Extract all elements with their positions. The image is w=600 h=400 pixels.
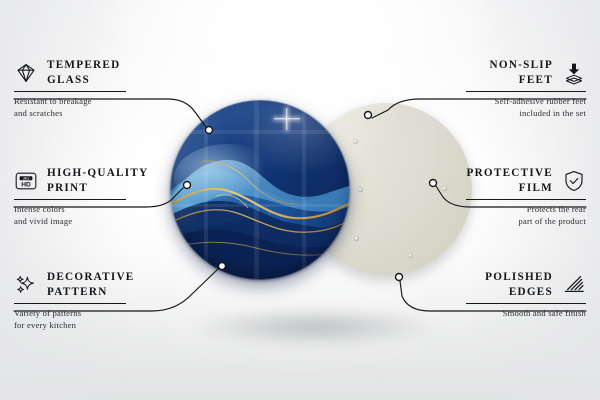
- ultra-hd-icon-bottom-text: HD: [21, 181, 31, 188]
- feature-divider: [14, 303, 126, 304]
- ultra-hd-icon: ultra HD: [14, 169, 38, 193]
- shield-check-icon: [562, 169, 586, 193]
- diamond-icon: [14, 61, 38, 85]
- feature-title: HIGH-QUALITY PRINT: [47, 166, 148, 196]
- feature-subtitle: Smooth and safe finish: [466, 307, 586, 319]
- feature-subtitle: Self-adhesive rubber feet included in th…: [466, 95, 586, 120]
- feature-title: DECORATIVE PATTERN: [47, 270, 135, 300]
- feature-title: POLISHED EDGES: [485, 270, 553, 300]
- feature-protective-film: PROTECTIVE FILM Protects the rear part o…: [466, 166, 586, 228]
- callout-marker-tempered-glass: [206, 127, 213, 134]
- feature-high-quality-print: ultra HD HIGH-QUALITY PRINT Intense colo…: [14, 166, 148, 228]
- feature-divider: [14, 91, 126, 92]
- ultra-hd-icon-top-text: ultra: [23, 176, 30, 180]
- feature-polished-edges: POLISHED EDGES Smooth and safe finish: [466, 270, 586, 319]
- feature-decorative-pattern: DECORATIVE PATTERN Variety of patterns f…: [14, 270, 135, 332]
- infographic-canvas: TEMPERED GLASS Resistant to breakage and…: [0, 0, 600, 400]
- callout-marker-non-slip-feet: [365, 112, 372, 119]
- feature-subtitle: Protects the rear part of the product: [466, 203, 586, 228]
- feature-divider: [466, 303, 586, 304]
- feature-subtitle: Resistant to breakage and scratches: [14, 95, 126, 120]
- callout-marker-decorative-pattern: [219, 263, 226, 270]
- feature-non-slip-feet: NON-SLIP FEET Self-adhesive rubber feet …: [466, 58, 586, 120]
- feature-subtitle: Intense colors and vivid image: [14, 203, 148, 228]
- feature-divider: [14, 199, 126, 200]
- feature-tempered-glass: TEMPERED GLASS Resistant to breakage and…: [14, 58, 126, 120]
- sparkles-icon: [14, 273, 38, 297]
- feature-divider: [466, 91, 586, 92]
- press-down-icon: [562, 61, 586, 85]
- feature-title: TEMPERED GLASS: [47, 58, 120, 88]
- feature-title: NON-SLIP FEET: [490, 58, 553, 88]
- feature-title: PROTECTIVE FILM: [467, 166, 553, 196]
- callout-marker-polished-edges: [396, 274, 403, 281]
- feature-subtitle: Variety of patterns for every kitchen: [14, 307, 135, 332]
- diagonal-lines-icon: [562, 273, 586, 297]
- callout-marker-protective-film: [430, 180, 437, 187]
- feature-divider: [466, 199, 586, 200]
- callout-marker-high-quality-print: [184, 182, 191, 189]
